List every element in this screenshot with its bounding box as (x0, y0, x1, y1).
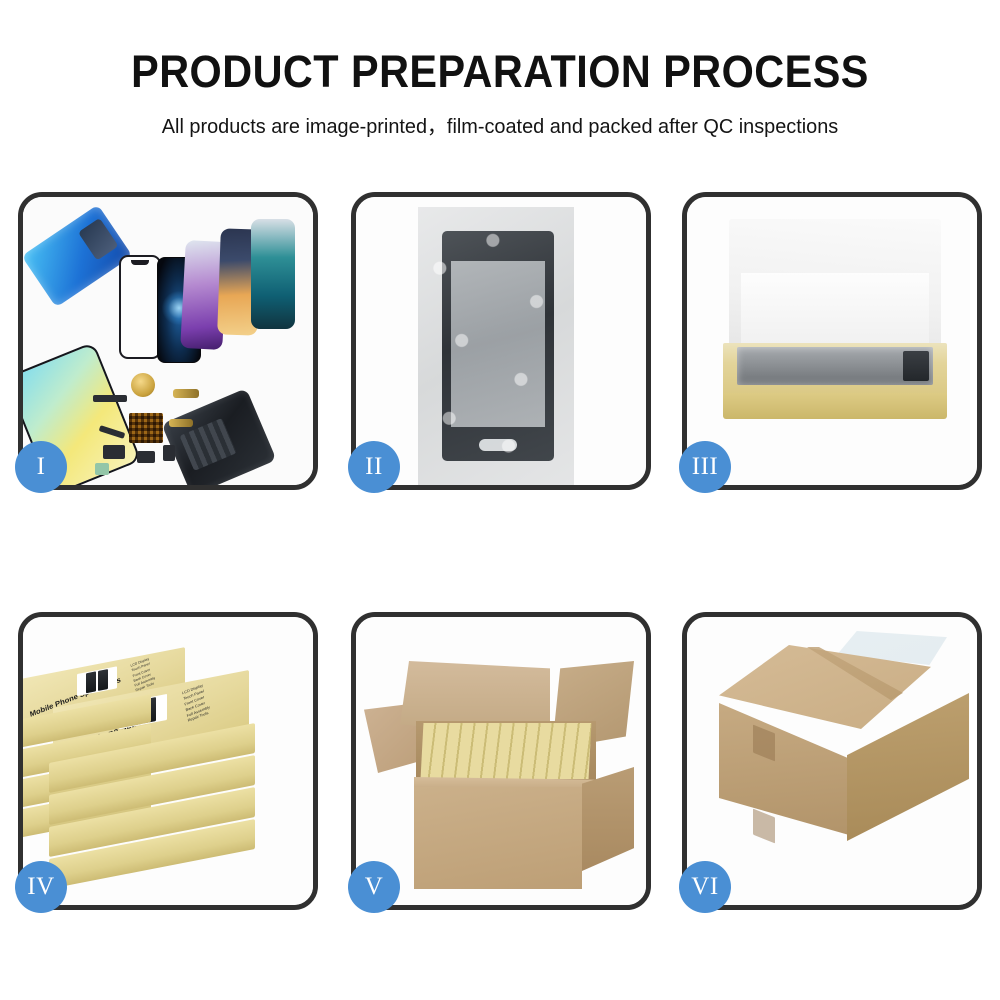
phone-parts-collage (23, 197, 313, 485)
step-badge-4: IV (15, 861, 67, 913)
carton-front-panel-icon (414, 787, 582, 889)
step-6-image (687, 617, 977, 905)
packed-screen-icon (737, 347, 933, 385)
earpiece-part-icon (93, 395, 127, 402)
front-glass-icon (119, 255, 161, 359)
step-badge-5: V (348, 861, 400, 913)
step-badge-1: I (15, 441, 67, 493)
small-board-icon (95, 463, 109, 475)
retail-box-stack: Mobile Phone Spare Parts LCD DisplayTouc… (23, 633, 313, 903)
step-2-image (356, 197, 646, 485)
step-badge-3: III (679, 441, 731, 493)
carton-side-panel-icon (582, 767, 634, 871)
sim-tray-icon (163, 445, 175, 461)
vibrator-part-icon (137, 451, 155, 463)
bubble-texture-overlay (418, 207, 574, 485)
screw-mat-icon (129, 413, 163, 443)
packed-retail-boxes-icon (421, 723, 592, 779)
process-step-panel-6: VI (682, 612, 982, 910)
bubble-wrap-sheet (418, 207, 574, 485)
teal-phone-icon (251, 219, 295, 329)
blue-phone-back-icon (23, 205, 132, 308)
page-title: PRODUCT PREPARATION PROCESS (40, 48, 960, 95)
step-4-image: Mobile Phone Spare Parts LCD DisplayTouc… (23, 617, 313, 905)
camera-part-icon (103, 445, 125, 459)
process-step-panel-2: II (351, 192, 651, 490)
sealed-carton-front-icon (719, 703, 849, 835)
process-step-panel-3: III (682, 192, 982, 490)
box-lid-open-icon (729, 219, 941, 351)
process-step-panel-5: V (351, 612, 651, 910)
process-step-panel-1: I (18, 192, 318, 490)
page-header: PRODUCT PREPARATION PROCESS All products… (0, 0, 1000, 139)
button-flex-icon (169, 419, 193, 427)
process-step-grid: I II III Mobile Phone Spare Parts (0, 190, 1000, 930)
step-badge-6: VI (679, 861, 731, 913)
step-badge-2: II (348, 441, 400, 493)
spare-parts-group (97, 373, 247, 483)
speaker-part-icon (131, 373, 155, 397)
process-step-panel-4: Mobile Phone Spare Parts LCD DisplayTouc… (18, 612, 318, 910)
antenna-part-icon (99, 425, 126, 439)
step-1-image (23, 197, 313, 485)
box-product-image-back (77, 666, 117, 696)
step-5-image (356, 617, 646, 905)
carton-tape-patch-lower-icon (753, 809, 775, 844)
page-subtitle: All products are image-printed，film-coat… (15, 109, 985, 139)
box-front-panel-icon (723, 393, 947, 419)
box-spec-list-front: LCD DisplayTouch PanelFront CoverBack Co… (182, 683, 212, 725)
flex-cable-icon (173, 389, 199, 398)
step-3-image (687, 197, 977, 485)
